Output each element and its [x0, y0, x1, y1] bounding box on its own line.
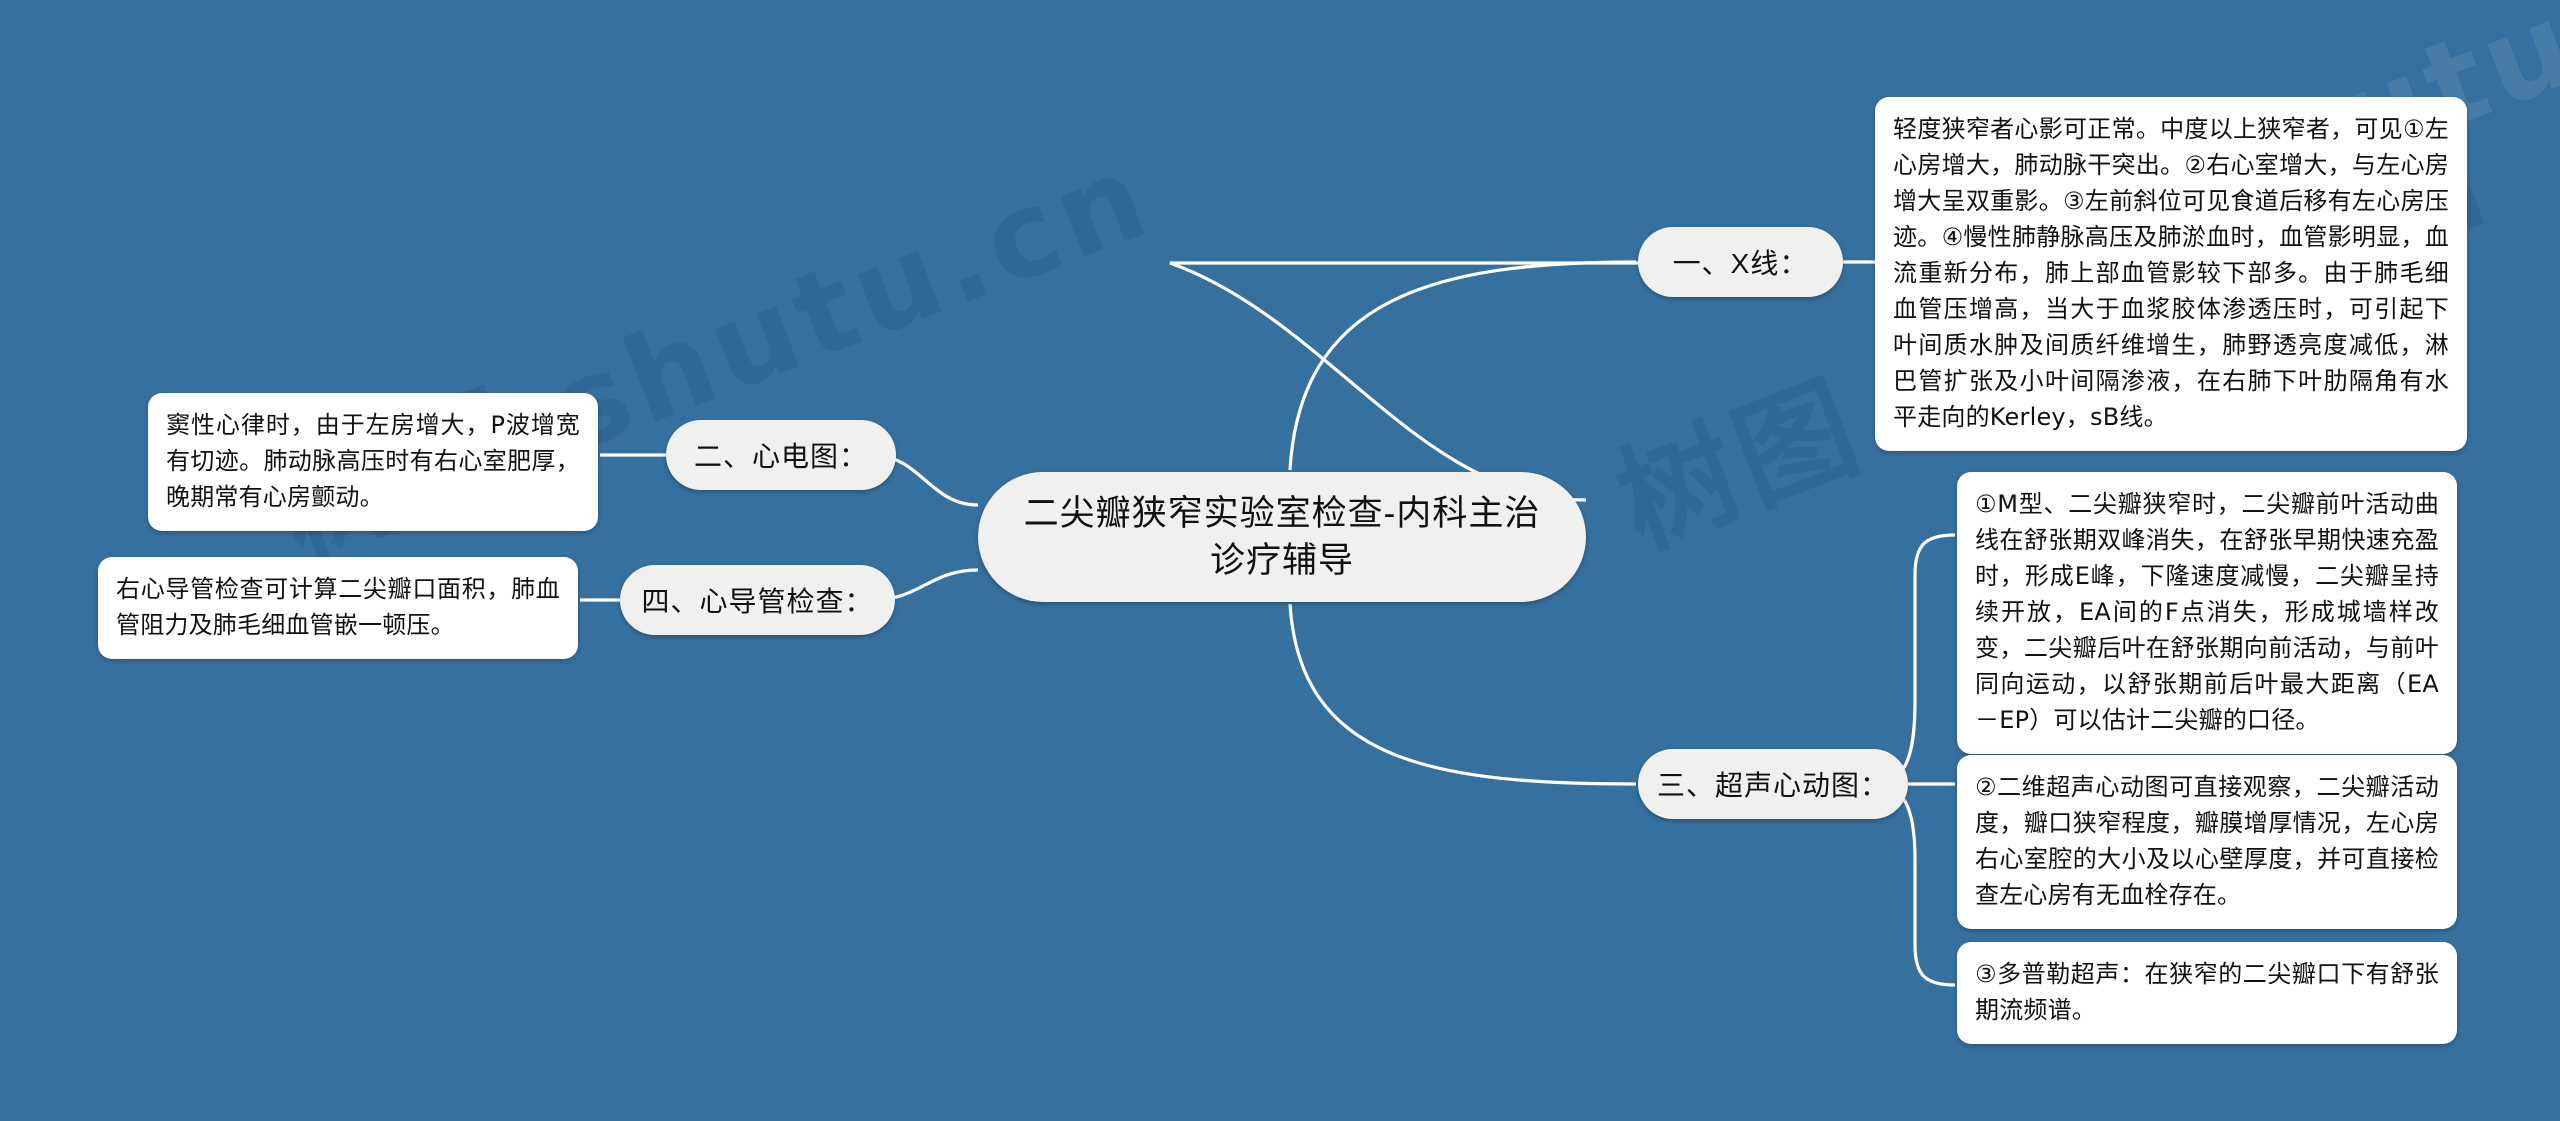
- leaf-card-xray-detail[interactable]: 轻度狭窄者心影可正常。中度以上狭窄者，可见①左心房增大，肺动脉干突出。②右心室增…: [1875, 97, 2467, 451]
- leaf-text-echo-m: ①M型、二尖瓣狭窄时，二尖瓣前叶活动曲线在舒张期双峰消失，在舒张早期快速充盈时，…: [1975, 490, 2439, 734]
- branch-node-ecg[interactable]: 二、心电图：: [666, 420, 896, 490]
- leaf-text-xray-detail: 轻度狭窄者心影可正常。中度以上狭窄者，可见①左心房增大，肺动脉干突出。②右心室增…: [1893, 115, 2449, 431]
- leaf-text-echo-doppler: ③多普勒超声：在狭窄的二尖瓣口下有舒张期流频谱。: [1975, 960, 2439, 1024]
- leaf-text-catheter-detail: 右心导管检查可计算二尖瓣口面积，肺血管阻力及肺毛细血管嵌一顿压。: [116, 575, 560, 639]
- leaf-card-catheter-detail[interactable]: 右心导管检查可计算二尖瓣口面积，肺血管阻力及肺毛细血管嵌一顿压。: [98, 557, 578, 659]
- branch-label-ecg: 二、心电图：: [694, 435, 868, 475]
- leaf-card-echo-m[interactable]: ①M型、二尖瓣狭窄时，二尖瓣前叶活动曲线在舒张期双峰消失，在舒张早期快速充盈时，…: [1957, 472, 2457, 754]
- branch-node-xray[interactable]: 一、X线：: [1638, 227, 1843, 297]
- root-node-label: 二尖瓣狭窄实验室检查-内科主治诊疗辅导: [1018, 490, 1546, 585]
- branch-node-catheter[interactable]: 四、心导管检查：: [620, 565, 895, 635]
- branch-label-echo: 三、超声心动图：: [1657, 764, 1889, 804]
- branch-label-xray: 一、X线：: [1673, 242, 1809, 282]
- leaf-text-echo-2d: ②二维超声心动图可直接观察，二尖瓣活动度，瓣口狭窄程度，瓣膜增厚情况，左心房右心…: [1975, 773, 2439, 909]
- leaf-card-echo-2d[interactable]: ②二维超声心动图可直接观察，二尖瓣活动度，瓣口狭窄程度，瓣膜增厚情况，左心房右心…: [1957, 755, 2457, 929]
- branch-node-echo[interactable]: 三、超声心动图：: [1638, 749, 1908, 819]
- link-echo-m: [1870, 535, 1955, 784]
- link-root-echo-curve: [1290, 604, 1636, 784]
- leaf-text-ecg-detail: 窦性心律时，由于左房增大，P波增宽有切迹。肺动脉高压时有右心室肥厚，晚期常有心房…: [166, 411, 580, 511]
- root-node[interactable]: 二尖瓣狭窄实验室检查-内科主治诊疗辅导: [978, 472, 1586, 602]
- branch-label-catheter: 四、心导管检查：: [642, 580, 874, 620]
- link-root-xray: [1170, 263, 1640, 500]
- link-root-xray-curve: [1290, 262, 1636, 470]
- mindmap-canvas: 树图 shutu.cn 树图 shutu.cn 树图 shutu.cn 二尖瓣狭…: [0, 0, 2560, 1121]
- leaf-card-echo-doppler[interactable]: ③多普勒超声：在狭窄的二尖瓣口下有舒张期流频谱。: [1957, 942, 2457, 1044]
- leaf-card-ecg-detail[interactable]: 窦性心律时，由于左房增大，P波增宽有切迹。肺动脉高压时有右心室肥厚，晚期常有心房…: [148, 393, 598, 531]
